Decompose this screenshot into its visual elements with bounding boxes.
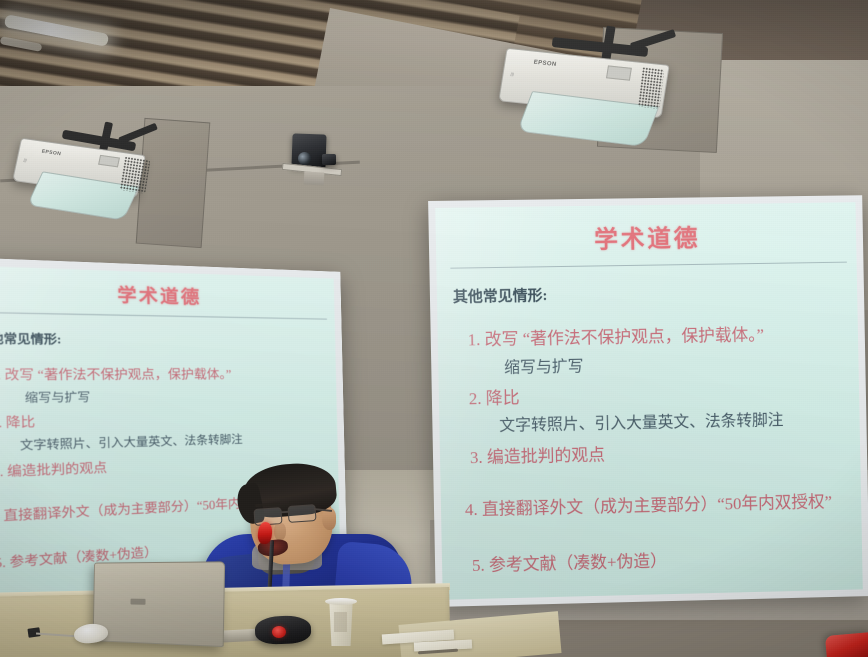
slide-right-item-2: 2. 降比 — [469, 383, 520, 409]
slide-right-item-1: 1. 改写 “著作法不保护观点，保护载体。” — [467, 320, 764, 350]
slide-right-item-5: 5. 参考文献（凑数+伪造） — [472, 547, 667, 577]
slide-right-item-3: 3. 编造批判的观点 — [470, 440, 605, 468]
ceiling-projector-right: EPSON ||| — [494, 38, 724, 158]
presenter-nose — [274, 523, 286, 541]
projector-side-markings: ||| — [23, 157, 27, 163]
slide-left-sub-2: 文字转照片、引入大量英文、法条转脚注 — [20, 430, 243, 454]
projector-side-markings: ||| — [510, 71, 514, 76]
projector-mount-bracket — [118, 123, 158, 144]
slide-left-item-2: 2. 降比 — [0, 412, 35, 432]
presenter-glasses-lens-right — [287, 504, 316, 523]
microphone-power-indicator — [272, 626, 286, 638]
projector-vent-left — [120, 156, 151, 194]
red-object — [825, 632, 868, 657]
paper-cup-rim — [325, 598, 357, 605]
ptz-camera-base — [304, 171, 325, 185]
slide-right-item-4: 4. 直接翻译外文（成为主要部分）“50年内双授权” — [465, 487, 832, 520]
slide-right-sub-2: 文字转照片、引入大量英文、法条转脚注 — [499, 406, 784, 435]
slide-left-item-3: 3. 编造批判的观点 — [0, 458, 107, 481]
lecture-room-photo: EPSON ||| EPSON ||| 学术道德 其 — [0, 0, 868, 657]
ceiling-projector-left: EPSON ||| — [10, 126, 200, 236]
paper-cup-print — [334, 612, 347, 632]
projection-screen-right-surface: 学术道德 其他常见情形: 1. 改写 “著作法不保护观点，保护载体。” 缩写与扩… — [435, 202, 863, 600]
projector-brand-label-left: EPSON — [41, 149, 62, 158]
ptz-camera-lens — [298, 152, 311, 165]
laptop-logo — [130, 599, 145, 605]
slide-right-lead: 其他常见情形: — [453, 284, 548, 306]
projector-sticker — [606, 65, 632, 80]
slide-left-item-1: 1. 改写 “著作法不保护观点，保护载体。” — [0, 365, 232, 384]
projector-sticker — [98, 155, 120, 168]
desk-surface — [0, 587, 451, 657]
slide-right-rule — [450, 262, 847, 269]
projection-screen-right: 学术道德 其他常见情形: 1. 改写 “著作法不保护观点，保护载体。” 缩写与扩… — [428, 195, 868, 607]
slide-right-title: 学术道德 — [436, 216, 857, 257]
ptz-camera-connector — [322, 154, 336, 165]
laptop[interactable] — [93, 561, 225, 647]
projector-brand-label-right: EPSON — [533, 60, 557, 68]
slide-left-title: 学术道德 — [0, 274, 334, 311]
slide-left-lead: 其他常见情形: — [0, 329, 62, 348]
slide-left-rule — [0, 312, 327, 320]
slide-right: 学术道德 其他常见情形: 1. 改写 “著作法不保护观点，保护载体。” 缩写与扩… — [435, 202, 863, 600]
slide-right-sub-1: 缩写与扩写 — [504, 352, 584, 377]
slide-left-sub-1: 缩写与扩写 — [25, 388, 91, 407]
ptz-camera — [282, 132, 348, 194]
